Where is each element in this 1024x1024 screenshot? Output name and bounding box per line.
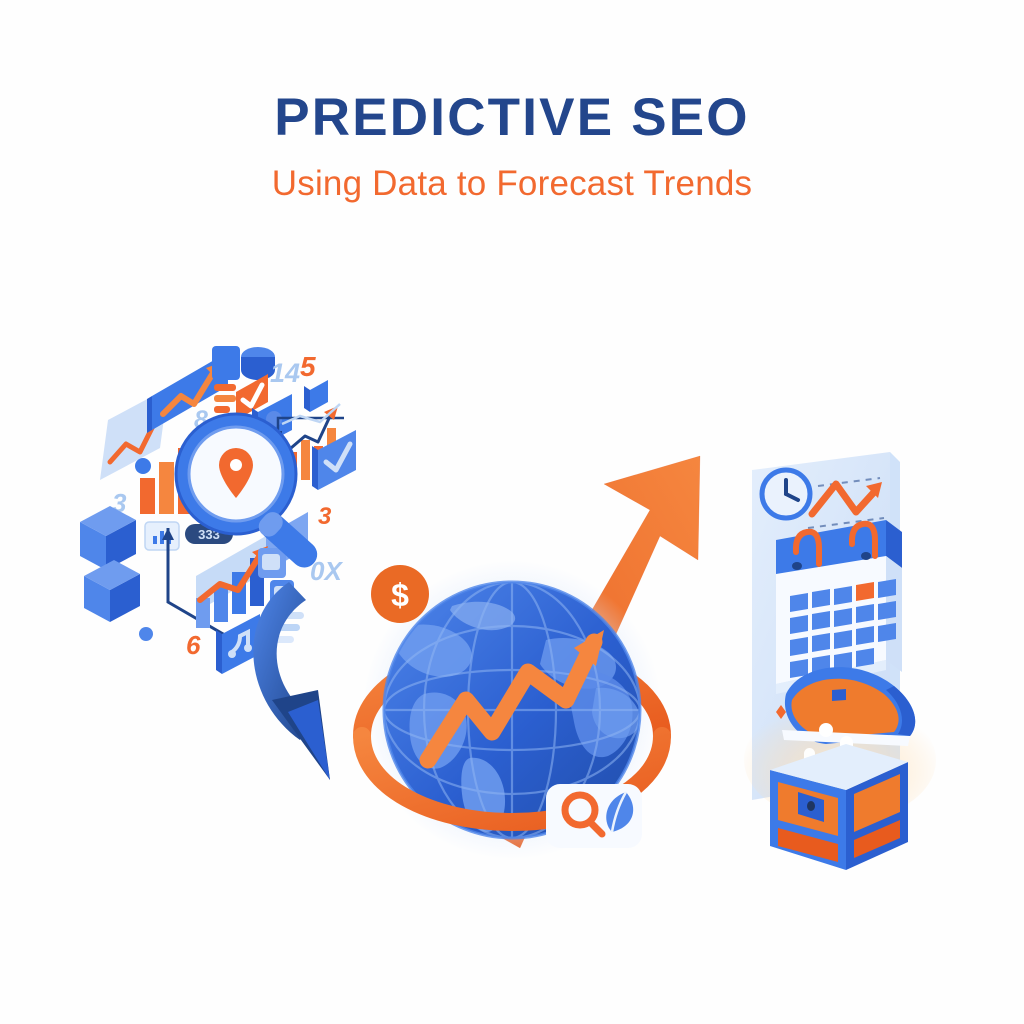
cube-block-lower [84, 560, 140, 622]
seo-leaf-badge [546, 784, 642, 848]
dollar-symbol: $ [391, 577, 409, 613]
dot-marker [139, 627, 153, 641]
cluster-number-6: 6 [186, 630, 201, 660]
cluster-number-5: 5 [300, 351, 316, 382]
curved-flow-arrow [253, 582, 330, 780]
cube-block [304, 380, 328, 412]
cluster-number-3-right: 3 [318, 503, 332, 530]
clock-icon [762, 470, 810, 518]
cluster-number-14: 14 [270, 358, 300, 388]
illustration-canvas: PREDICTIVE SEO Using Data to Forecast Tr… [0, 0, 1024, 1024]
world-globe: $ [362, 560, 662, 860]
analytics-data-cluster: 14 5 [80, 346, 356, 674]
mini-bar-widget [145, 522, 179, 550]
music-note-card [216, 614, 260, 674]
dollar-coin-badge: $ [371, 565, 429, 623]
cube-block-upper [80, 506, 136, 570]
main-illustration: 14 5 [0, 0, 1024, 1024]
